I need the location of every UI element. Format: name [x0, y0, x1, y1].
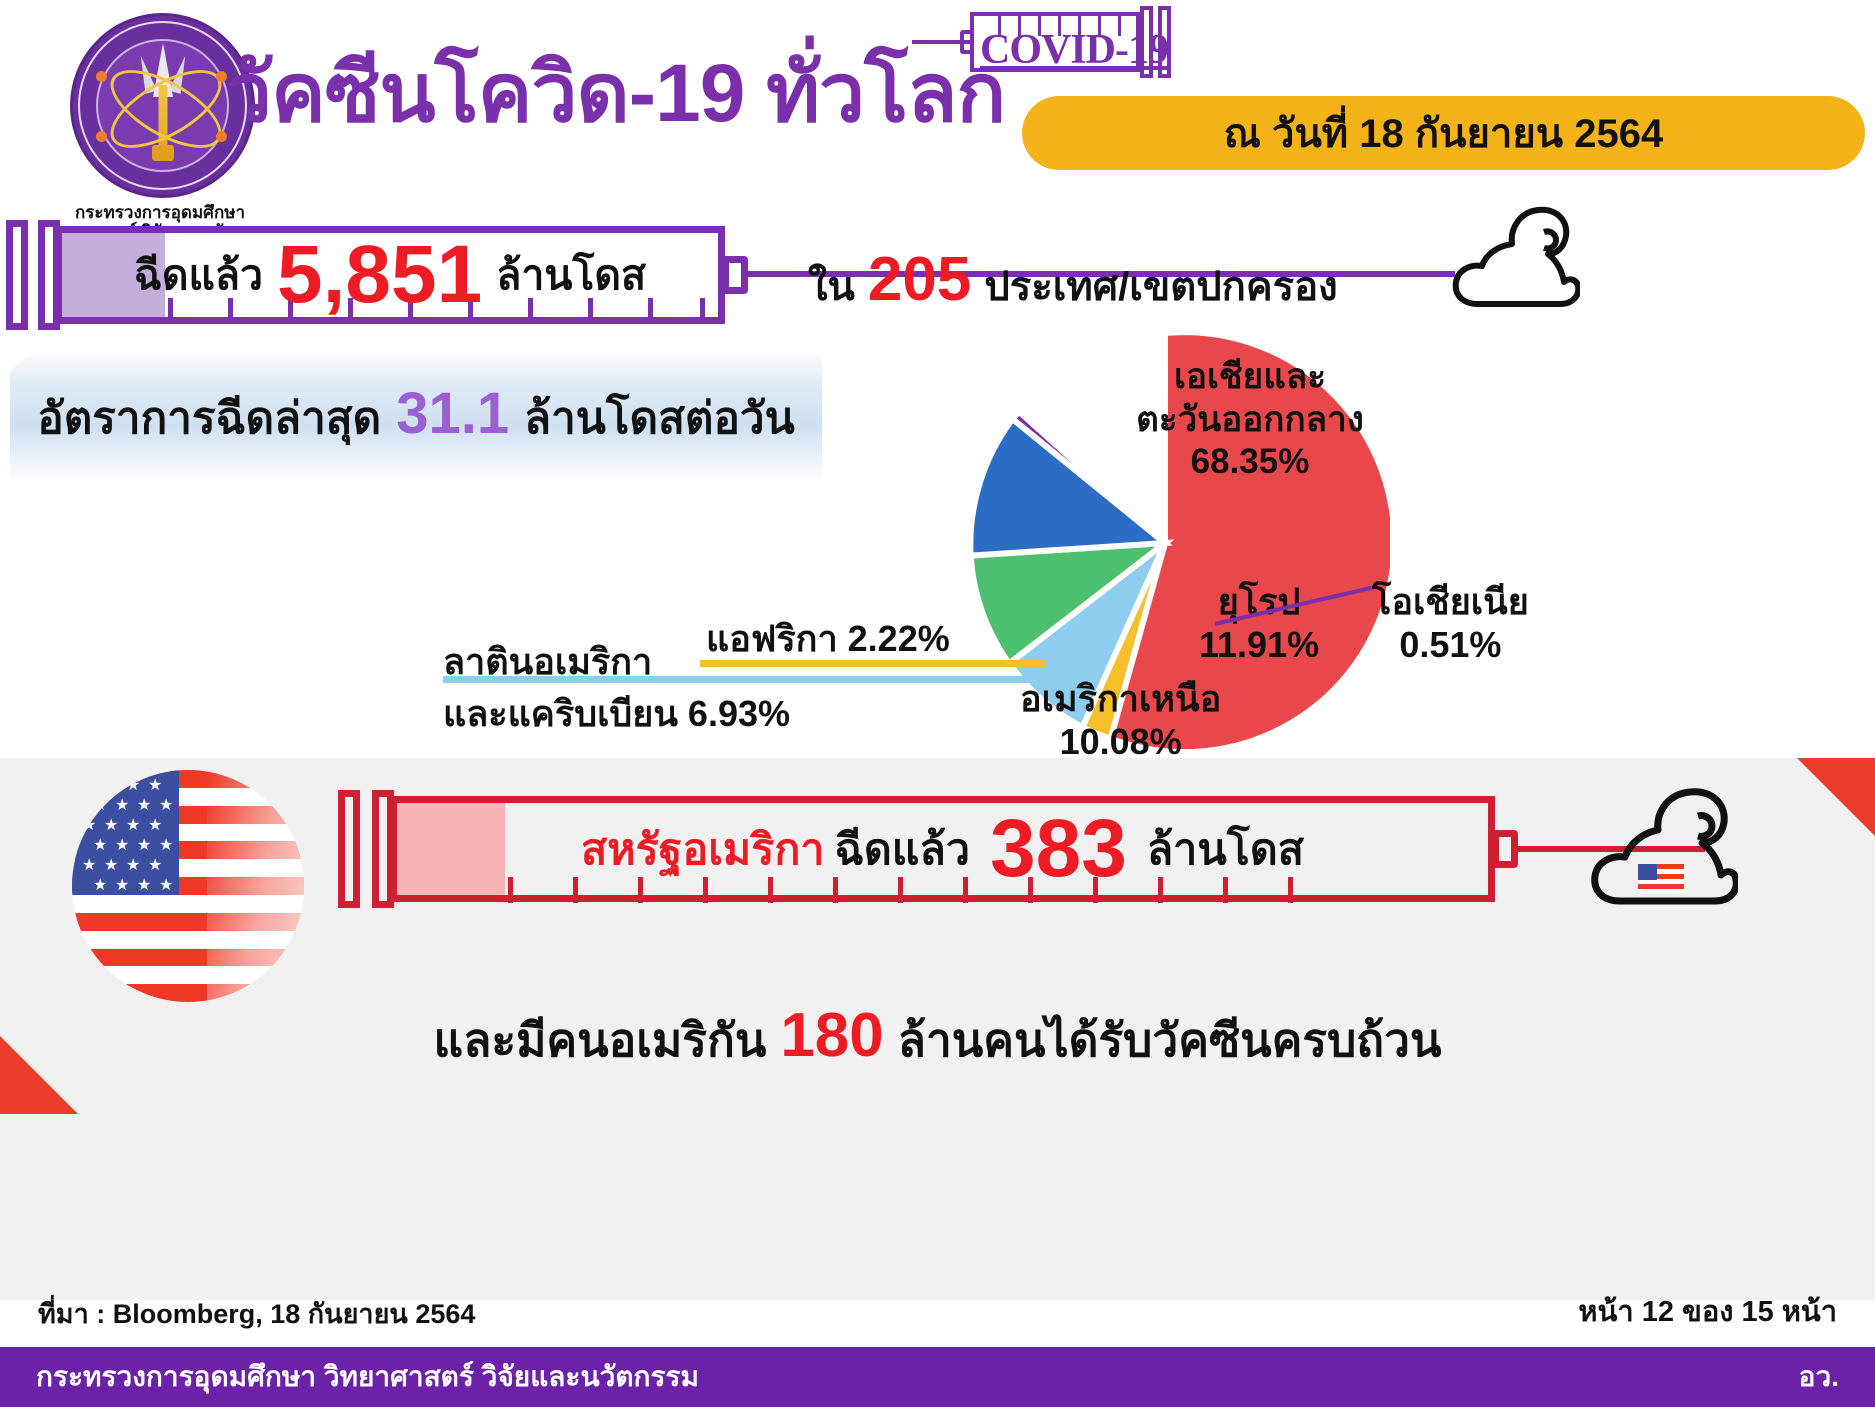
- covid-19-label: COVID-19: [980, 26, 1168, 74]
- rate-value: 31.1: [396, 380, 509, 447]
- global-doses-value: 5,851: [277, 238, 482, 312]
- page-title: วัคซีนโควิด-19 ทั่วโลก: [226, 28, 1005, 158]
- usa-country-label: สหรัฐอเมริกา: [581, 815, 825, 883]
- footer-bar: กระทรวงการอุดมศึกษา วิทยาศาสตร์ วิจัยและ…: [0, 1347, 1875, 1407]
- fully-vax-suffix: ล้านคนได้รับวัคซีนครบถ้วน: [898, 1004, 1442, 1077]
- global-doses-label: ฉีดแล้ว: [134, 243, 263, 308]
- usa-doses-value: 383: [990, 812, 1127, 886]
- daily-rate-banner: อัตราการฉีดล่าสุด 31.1 ล้านโดสต่อวัน: [10, 350, 822, 482]
- pie-label-asia: เอเชียและ ตะวันออกกลาง 68.35%: [1090, 356, 1410, 484]
- pie-label-north-america-pct: 10.08%: [1020, 720, 1221, 763]
- countries-value: 205: [868, 244, 971, 315]
- usa-doses-label: ฉีดแล้ว: [835, 815, 970, 883]
- date-badge-text: ณ วันที่ 18 กันยายน 2564: [1224, 101, 1663, 165]
- fully-vax-value: 180: [780, 1000, 883, 1071]
- date-badge: ณ วันที่ 18 กันยายน 2564: [1022, 96, 1865, 170]
- flexed-arm-usa-icon: [1590, 778, 1738, 918]
- global-doses-syringe: ฉีดแล้ว 5,851 ล้านโดส: [0, 220, 790, 330]
- page-number: หน้า 12 ของ 15 หน้า: [1578, 1288, 1837, 1334]
- global-doses-unit: ล้านโดส: [496, 243, 646, 308]
- fully-vax-prefix: และมีคนอเมริกัน: [434, 1004, 767, 1077]
- footer-abbr: อว.: [1799, 1355, 1839, 1399]
- rate-label: อัตราการฉีดล่าสุด: [37, 383, 381, 453]
- countries-suffix: ประเทศ/เขตปกครอง: [984, 254, 1337, 318]
- leader-line-latin-america: [443, 676, 1063, 683]
- countries-count: ใน 205 ประเทศ/เขตปกครอง: [808, 244, 1338, 318]
- pie-label-europe-pct: 11.91%: [1199, 623, 1319, 666]
- pie-label-oceania-pct: 0.51%: [1372, 623, 1529, 666]
- usa-doses-syringe: สหรัฐอเมริกา ฉีดแล้ว 383 ล้านโดส: [330, 790, 1390, 908]
- pie-label-asia-line2: ตะวันออกกลาง: [1090, 399, 1410, 442]
- pie-label-oceania-name: โอเชียเนีย: [1372, 580, 1529, 623]
- pie-label-latin-line2: และแคริบเบียน 6.93%: [443, 685, 790, 742]
- pie-label-asia-pct: 68.35%: [1090, 441, 1410, 484]
- pie-label-north-america-name: อเมริกาเหนือ: [1020, 677, 1221, 720]
- corner-accent-top-right: [1797, 758, 1875, 836]
- flexed-arm-icon: [1452, 198, 1580, 318]
- pie-label-oceania: โอเชียเนีย 0.51%: [1372, 580, 1529, 666]
- usa-doses-unit: ล้านโดส: [1147, 815, 1304, 883]
- leader-line-africa: [700, 660, 1045, 667]
- usa-fully-vaccinated: และมีคนอเมริกัน 180 ล้านคนได้รับวัคซีนคร…: [0, 1000, 1875, 1077]
- arm-flag-patch: [1638, 864, 1684, 894]
- pie-label-asia-line1: เอเชียและ: [1090, 356, 1410, 399]
- countries-prefix: ใน: [808, 254, 855, 318]
- rate-unit: ล้านโดสต่อวัน: [524, 383, 795, 453]
- pie-label-africa: แอฟริกา 2.22%: [706, 610, 950, 667]
- usa-flag-icon: ★★ ★★ ★★ ★★ ★★ ★★ ★★ ★★ ★★ ★★ ★★ ★★: [72, 770, 304, 1002]
- pie-label-north-america: อเมริกาเหนือ 10.08%: [1020, 677, 1221, 763]
- source-note: ที่มา : Bloomberg, 18 กันยายน 2564: [38, 1292, 475, 1335]
- infographic-root: กระทรวงการอุดมศึกษา วิทยาศาสตร์ วิจัยและ…: [0, 0, 1875, 1407]
- footer-ministry-name: กระทรวงการอุดมศึกษา วิทยาศาสตร์ วิจัยและ…: [36, 1355, 699, 1399]
